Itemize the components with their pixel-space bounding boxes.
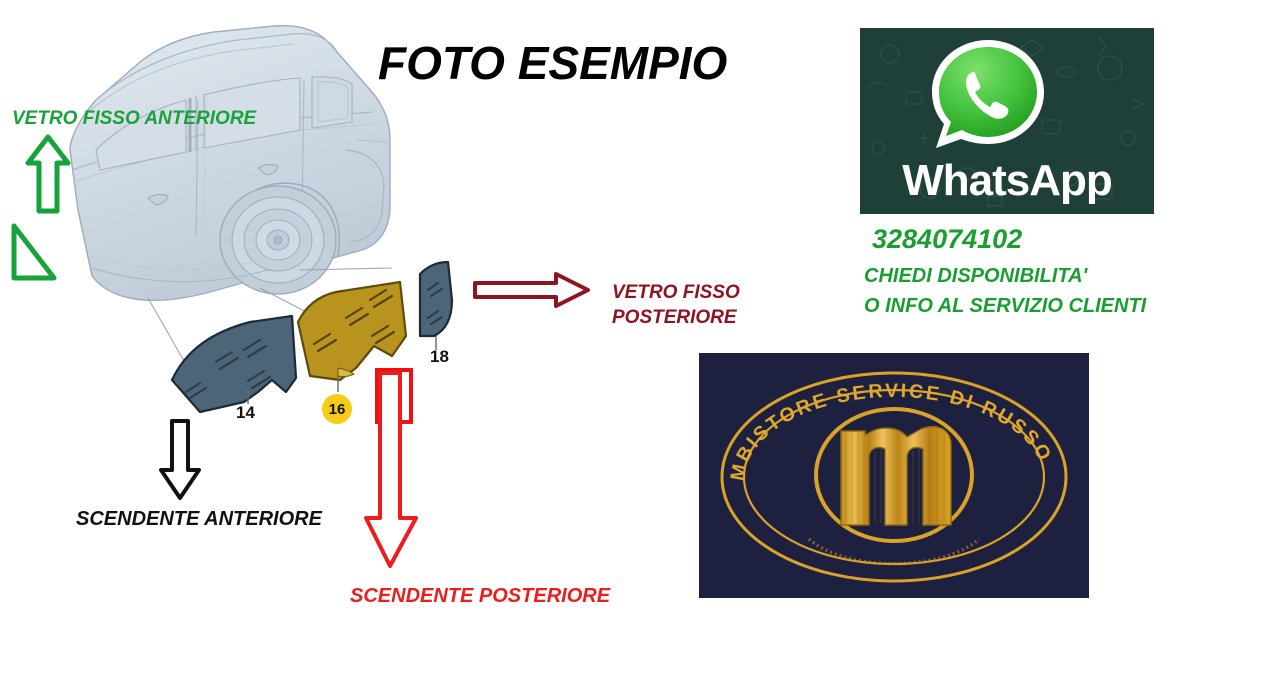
arrow-down-red-icon [362,370,422,570]
availability-line-2: O INFO AL SERVIZIO CLIENTI [864,295,1146,318]
label-vetro-fisso-posteriore: VETRO FISSO POSTERIORE [612,280,740,330]
whatsapp-banner[interactable]: WhatsApp [860,28,1154,214]
label-scendente-anteriore: SCENDENTE ANTERIORE [76,508,322,531]
shop-logo: MRICAMBISTORE SERVICE DI RUSSO MARCO [699,353,1089,598]
arrow-up-green-icon [25,133,71,215]
whatsapp-wordmark: WhatsApp [860,156,1154,206]
whatsapp-phone-bubble-icon [924,34,1052,158]
arrow-down-black-icon [158,418,202,502]
shop-logo-monogram [841,427,951,525]
label-vetro-fisso-posteriore-line2: POSTERIORE [612,305,740,330]
shop-logo-artwork: MRICAMBISTORE SERVICE DI RUSSO MARCO [699,353,1089,598]
page-title: FOTO ESEMPIO [378,36,798,90]
part-rear-fixed-quarter-glass [420,262,452,350]
availability-line-1: CHIEDI DISPONIBILITA' [864,265,1087,288]
phone-number[interactable]: 3284074102 [872,224,1022,255]
label-vetro-fisso-posteriore-line1: VETRO FISSO [612,280,740,305]
part-front-drop-glass [172,316,296,412]
triangle-outline-green-icon [8,222,58,284]
poster-canvas: 14 18 17 16 FOTO ESEMPIO VETRO FISSO ANT… [0,0,1264,678]
part-number-18: 18 [430,347,449,367]
label-scendente-posteriore: SCENDENTE POSTERIORE [350,585,610,608]
label-vetro-fisso-anteriore: VETRO FISSO ANTERIORE [12,108,256,130]
arrow-right-dark-red-icon [472,270,592,310]
car-body [70,26,390,301]
part-number-16-badge: 16 [322,394,352,424]
part-number-14: 14 [236,403,255,423]
